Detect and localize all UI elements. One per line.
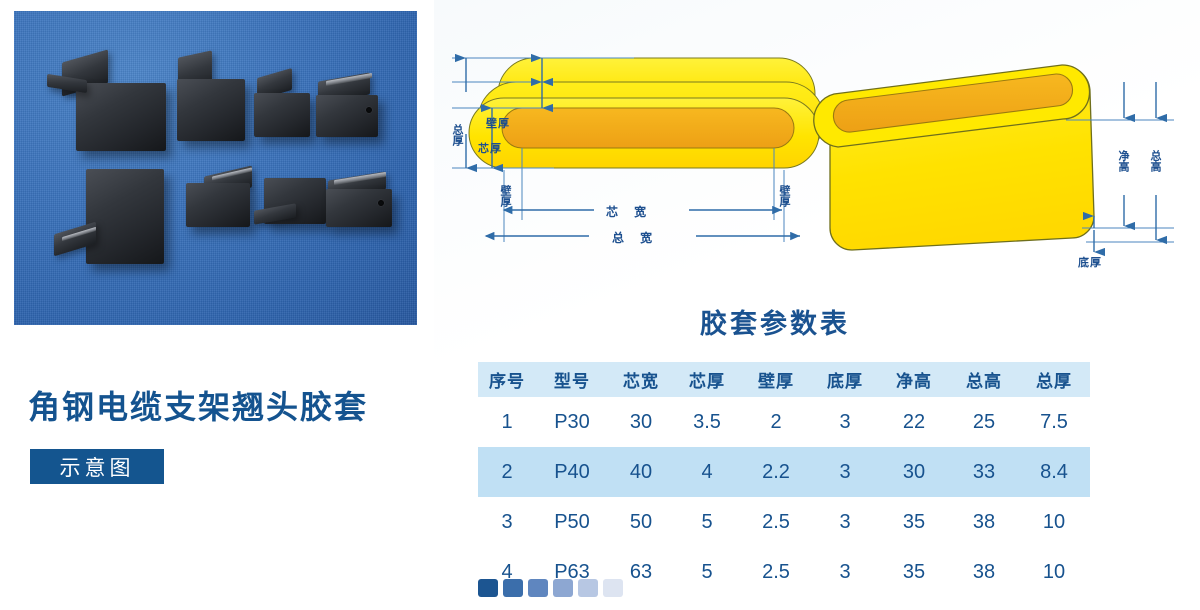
spec-table-body: 1 P30 30 3.5 2 3 22 25 7.5 2 P40 40 4 2.… <box>478 397 1090 597</box>
dim-label-wall-thickness-right: 壁厚 <box>779 185 790 207</box>
dim-label-total-thickness: 总厚 <box>452 124 463 146</box>
dim-label-bottom-thickness: 底厚 <box>1078 254 1102 270</box>
col-header-total-thick: 总厚 <box>1018 362 1090 397</box>
swatch-4 <box>553 579 573 597</box>
col-header-core-width: 芯宽 <box>608 362 674 397</box>
table-row: 1 P30 30 3.5 2 3 22 25 7.5 <box>478 397 1090 447</box>
dim-label-net-height: 净高 <box>1118 150 1129 172</box>
table-header-row: 序号 型号 芯宽 芯厚 壁厚 底厚 净高 总高 总厚 <box>478 362 1090 397</box>
col-header-net-height: 净高 <box>878 362 950 397</box>
col-header-total-height: 总高 <box>950 362 1018 397</box>
cell-net-height: 22 <box>878 397 950 447</box>
cell-total-thick: 10 <box>1018 497 1090 547</box>
cell-net-height: 35 <box>878 547 950 597</box>
iso-view-sleeve-shape <box>814 65 1094 250</box>
cell-core-width: 30 <box>608 397 674 447</box>
col-header-wall-thick: 壁厚 <box>740 362 812 397</box>
col-header-index: 序号 <box>478 362 536 397</box>
cell-total-height: 33 <box>950 447 1018 497</box>
cell-model: P30 <box>536 397 608 447</box>
col-header-bottom-thick: 底厚 <box>812 362 878 397</box>
swatch-5 <box>578 579 598 597</box>
dim-label-core-thickness: 芯厚 <box>478 140 502 156</box>
cell-total-height: 38 <box>950 547 1018 597</box>
spec-table: 序号 型号 芯宽 芯厚 壁厚 底厚 净高 总高 总厚 1 P30 30 3.5 … <box>478 362 1090 597</box>
page-title: 角钢电缆支架翘头胶套 <box>28 382 368 428</box>
cell-total-thick: 8.4 <box>1018 447 1090 497</box>
page-root: 角钢电缆支架翘头胶套 示意图 <box>0 0 1200 610</box>
col-header-model: 型号 <box>536 362 608 397</box>
cell-bottom-thick: 3 <box>812 447 878 497</box>
cell-net-height: 35 <box>878 497 950 547</box>
swatch-6 <box>603 579 623 597</box>
cell-total-height: 25 <box>950 397 1018 447</box>
cell-total-height: 38 <box>950 497 1018 547</box>
cell-model: P40 <box>536 447 608 497</box>
cell-core-thick: 4 <box>674 447 740 497</box>
cell-core-thick: 3.5 <box>674 397 740 447</box>
dim-label-core-width: 芯 宽 <box>606 203 652 220</box>
spec-table-head: 序号 型号 芯宽 芯厚 壁厚 底厚 净高 总高 总厚 <box>478 362 1090 397</box>
cell-net-height: 30 <box>878 447 950 497</box>
cell-bottom-thick: 3 <box>812 497 878 547</box>
cell-wall-thick: 2.5 <box>740 547 812 597</box>
cell-index: 3 <box>478 497 536 547</box>
dim-label-wall-thickness-top: 壁厚 <box>486 115 510 131</box>
cell-core-width: 50 <box>608 497 674 547</box>
status-badge: 示意图 <box>30 449 164 484</box>
cell-bottom-thick: 3 <box>812 547 878 597</box>
cell-wall-thick: 2 <box>740 397 812 447</box>
cell-index: 2 <box>478 447 536 497</box>
table-title: 胶套参数表 <box>700 302 850 341</box>
cell-core-thick: 5 <box>674 497 740 547</box>
dim-label-total-height: 总高 <box>1150 150 1161 172</box>
col-header-core-thick: 芯厚 <box>674 362 740 397</box>
swatch-1 <box>478 579 498 597</box>
table-row: 2 P40 40 4 2.2 3 30 33 8.4 <box>478 447 1090 497</box>
swatch-3 <box>528 579 548 597</box>
product-photo <box>14 11 417 325</box>
cell-wall-thick: 2.5 <box>740 497 812 547</box>
schematic-diagrams: 总厚 壁厚 芯厚 壁厚 壁厚 芯 宽 总 宽 净高 总高 底厚 <box>434 20 1200 300</box>
cell-bottom-thick: 3 <box>812 397 878 447</box>
cell-index: 1 <box>478 397 536 447</box>
cell-model: P50 <box>536 497 608 547</box>
swatch-2 <box>503 579 523 597</box>
dim-label-total-width: 总 宽 <box>612 229 658 246</box>
table-row: 3 P50 50 5 2.5 3 35 38 10 <box>478 497 1090 547</box>
dim-label-wall-thickness-bottom: 壁厚 <box>500 185 511 207</box>
color-swatch-strip <box>478 579 623 597</box>
cell-core-thick: 5 <box>674 547 740 597</box>
cell-wall-thick: 2.2 <box>740 447 812 497</box>
cell-core-width: 40 <box>608 447 674 497</box>
cell-total-thick: 10 <box>1018 547 1090 597</box>
cell-total-thick: 7.5 <box>1018 397 1090 447</box>
